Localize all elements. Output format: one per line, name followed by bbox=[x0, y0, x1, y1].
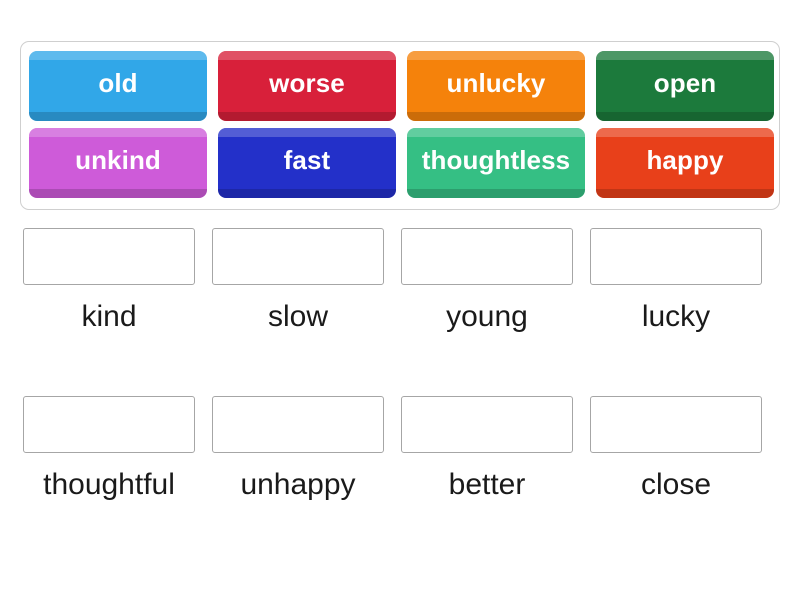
answer-label: unhappy bbox=[240, 469, 355, 501]
drop-zone[interactable] bbox=[401, 396, 573, 453]
answer-label: lucky bbox=[642, 301, 710, 333]
answer-cell-unhappy: unhappy bbox=[209, 396, 387, 501]
answer-label: young bbox=[446, 301, 528, 333]
answer-label: kind bbox=[81, 301, 136, 333]
word-tile-label: unlucky bbox=[443, 70, 550, 96]
tile-row-1: old worse unlucky open bbox=[29, 51, 771, 121]
drop-zone[interactable] bbox=[590, 396, 762, 453]
answer-cell-young: young bbox=[398, 228, 576, 333]
answer-cell-slow: slow bbox=[209, 228, 387, 333]
answer-label: better bbox=[449, 469, 526, 501]
answer-cell-thoughtful: thoughtful bbox=[20, 396, 198, 501]
word-tile-label: fast bbox=[280, 147, 335, 173]
word-tile-worse[interactable]: worse bbox=[218, 51, 396, 121]
answer-cell-kind: kind bbox=[20, 228, 198, 333]
word-tile-unkind[interactable]: unkind bbox=[29, 128, 207, 198]
word-tile-label: happy bbox=[642, 147, 727, 173]
drop-zone[interactable] bbox=[212, 228, 384, 285]
answer-cell-close: close bbox=[587, 396, 765, 501]
tile-row-2: unkind fast thoughtless happy bbox=[29, 128, 771, 198]
word-tile-open[interactable]: open bbox=[596, 51, 774, 121]
answer-row-1: kind slow young lucky bbox=[20, 228, 780, 333]
drop-zone[interactable] bbox=[590, 228, 762, 285]
answer-row-2: thoughtful unhappy better close bbox=[20, 396, 780, 501]
word-tile-label: unkind bbox=[71, 147, 165, 173]
word-tile-happy[interactable]: happy bbox=[596, 128, 774, 198]
drop-zone[interactable] bbox=[401, 228, 573, 285]
word-tile-thoughtless[interactable]: thoughtless bbox=[407, 128, 585, 198]
word-tile-label: worse bbox=[265, 70, 349, 96]
answer-label: thoughtful bbox=[43, 469, 175, 501]
answer-label: slow bbox=[268, 301, 328, 333]
word-tile-label: old bbox=[94, 70, 141, 96]
word-tile-fast[interactable]: fast bbox=[218, 128, 396, 198]
drop-zone[interactable] bbox=[212, 396, 384, 453]
answer-cell-better: better bbox=[398, 396, 576, 501]
activity-stage: old worse unlucky open unkind fast thoug… bbox=[0, 0, 800, 600]
word-tile-unlucky[interactable]: unlucky bbox=[407, 51, 585, 121]
word-tile-old[interactable]: old bbox=[29, 51, 207, 121]
answer-cell-lucky: lucky bbox=[587, 228, 765, 333]
word-tile-label: thoughtless bbox=[418, 147, 574, 173]
word-tile-label: open bbox=[650, 70, 721, 96]
drop-zone[interactable] bbox=[23, 396, 195, 453]
drop-zone[interactable] bbox=[23, 228, 195, 285]
answer-grid: kind slow young lucky thoughtful u bbox=[20, 228, 780, 500]
answer-label: close bbox=[641, 469, 711, 501]
word-tile-tray: old worse unlucky open unkind fast thoug… bbox=[20, 41, 780, 210]
